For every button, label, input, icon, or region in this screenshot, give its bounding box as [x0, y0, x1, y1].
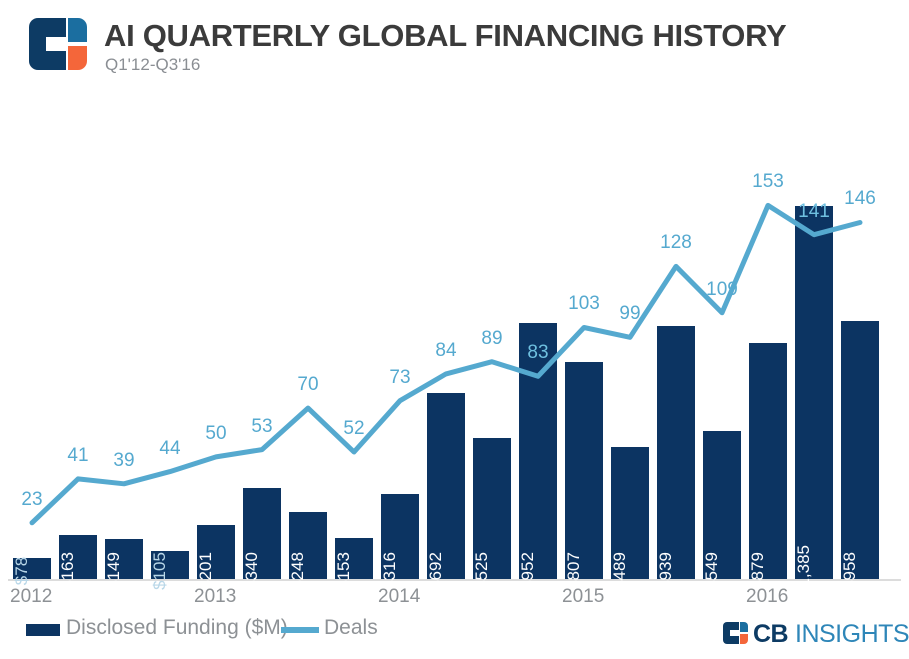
cb-insights-logo-icon [723, 622, 748, 644]
deals-value-label: 73 [389, 367, 410, 389]
legend-swatch-deals [281, 627, 319, 633]
deals-value-label: 153 [752, 171, 784, 193]
deals-value-label: 70 [297, 374, 318, 396]
deals-value-label: 23 [21, 489, 42, 511]
deals-value-label: 52 [343, 418, 364, 440]
footer-brand-insights: INSIGHTS [795, 620, 909, 649]
deals-value-label: 128 [660, 232, 692, 254]
deals-value-label: 141 [798, 201, 830, 223]
deals-value-label: 103 [568, 293, 600, 315]
legend-label-deals: Deals [324, 616, 378, 640]
chart-header: AI QUARTERLY GLOBAL FINANCING HISTORY Q1… [0, 0, 909, 92]
deals-value-label: 41 [67, 445, 88, 467]
footer-brand-cb: CB [753, 620, 788, 649]
x-axis-year-labels: 20122013201420152016 [0, 586, 909, 612]
deals-value-label: 89 [481, 328, 502, 350]
page-subtitle: Q1'12-Q3'16 [105, 55, 200, 75]
plot-area: $78$163$149$105$201$340$248$153$316$692$… [0, 92, 909, 582]
legend-label-funding: Disclosed Funding ($M) [66, 616, 288, 640]
legend-swatch-funding [26, 624, 60, 636]
deals-value-label: 44 [159, 438, 180, 460]
cb-insights-logo-icon [29, 18, 87, 70]
deals-line [32, 205, 860, 522]
chart-page: AI QUARTERLY GLOBAL FINANCING HISTORY Q1… [0, 0, 909, 659]
deals-value-label: 83 [527, 342, 548, 364]
deals-value-label: 99 [619, 303, 640, 325]
page-title: AI QUARTERLY GLOBAL FINANCING HISTORY [104, 18, 786, 54]
deals-value-label: 39 [113, 450, 134, 472]
x-axis-year-label: 2016 [746, 586, 788, 608]
x-axis-year-label: 2013 [194, 586, 236, 608]
deals-value-label: 146 [844, 188, 876, 210]
x-axis-year-label: 2015 [562, 586, 604, 608]
deals-line-layer [0, 92, 909, 582]
x-axis-year-label: 2014 [378, 586, 420, 608]
deals-value-label: 84 [435, 340, 456, 362]
footer-brand: CB INSIGHTS [723, 618, 893, 648]
x-axis-year-label: 2012 [10, 586, 52, 608]
deals-value-label: 50 [205, 423, 226, 445]
deals-value-label: 109 [706, 279, 738, 301]
deals-value-label: 53 [251, 416, 272, 438]
